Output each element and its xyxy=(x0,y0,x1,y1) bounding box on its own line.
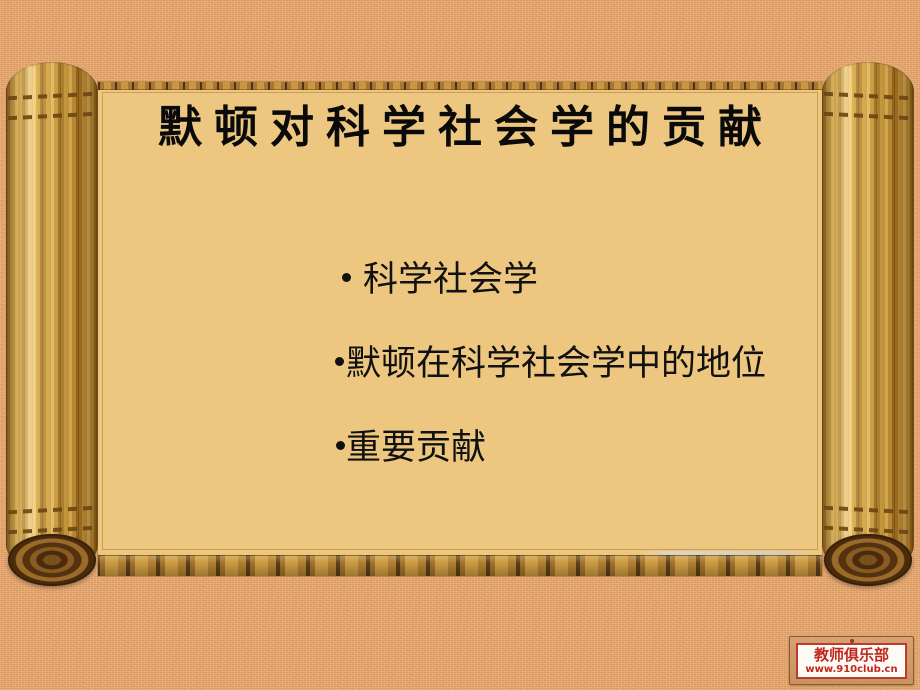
watermark-name: 教师俱乐部 xyxy=(814,647,889,664)
scroll-endcap-left xyxy=(8,534,96,586)
bullet-list: 科学社会学 默顿在科学社会学中的地位 重要贡献 xyxy=(335,258,815,470)
bullet-item: 默顿在科学社会学中的地位 xyxy=(335,342,815,386)
bamboo-slat-band-top xyxy=(98,82,822,90)
scroll-endcap-right xyxy=(824,534,912,586)
watermark-plate: 教师俱乐部 www.910club.cn xyxy=(796,643,907,679)
bullet-dot-icon xyxy=(335,357,344,366)
slide-title: 默顿对科学社会学的贡献 xyxy=(0,100,920,156)
bullet-dot-icon xyxy=(336,441,345,450)
watermark-badge: 教师俱乐部 www.910club.cn xyxy=(789,636,914,685)
watermark-url: www.910club.cn xyxy=(805,664,897,675)
bullet-text: 科学社会学 xyxy=(363,258,538,302)
bullet-item: 科学社会学 xyxy=(342,258,815,302)
bamboo-slat-band-bottom xyxy=(98,555,822,576)
bullet-text: 默顿在科学社会学中的地位 xyxy=(346,342,766,386)
bullet-dot-icon xyxy=(342,273,351,282)
slide-canvas: 默顿对科学社会学的贡献 科学社会学 默顿在科学社会学中的地位 重要贡献 教师俱乐… xyxy=(0,0,920,690)
bullet-text: 重要贡献 xyxy=(346,426,486,470)
bullet-item: 重要贡献 xyxy=(336,426,815,470)
